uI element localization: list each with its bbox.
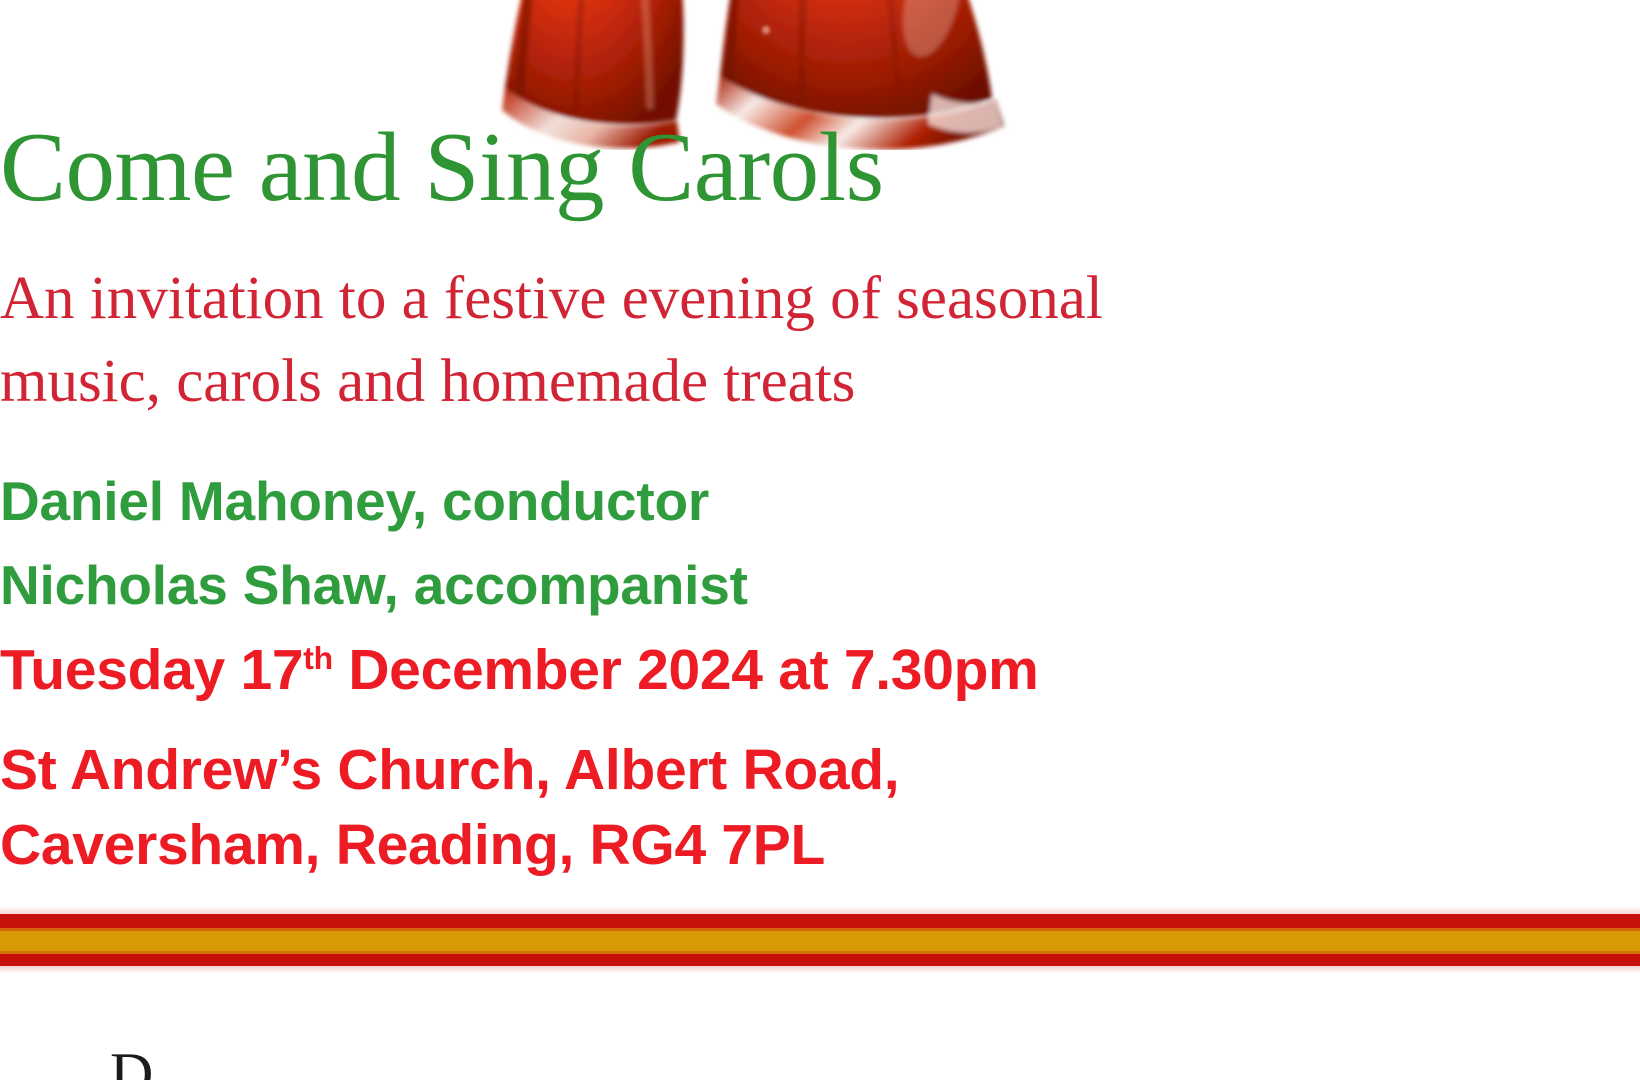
stripe-red-top bbox=[0, 914, 1640, 928]
event-date-suffix: December 2024 at 7.30pm bbox=[333, 638, 1039, 702]
bottom-cutoff-text: D bbox=[110, 1044, 1110, 1080]
event-date-prefix: Tuesday 17 bbox=[0, 638, 303, 702]
date-ordinal-suffix: th bbox=[303, 640, 333, 676]
event-venue: St Andrew’s Church, Albert Road, Caversh… bbox=[0, 733, 1640, 883]
venue-line-2: Caversham, Reading, RG4 7PL bbox=[0, 808, 1640, 883]
carol-concert-poster: Come and Sing Carols An invitation to a … bbox=[0, 0, 1640, 1080]
subtitle-line-1: An invitation to a festive evening of se… bbox=[0, 258, 1640, 341]
stripe-red-bottom bbox=[0, 954, 1640, 966]
bottom-cutoff-line-1: D bbox=[110, 1044, 1110, 1080]
event-datetime: Tuesday 17th December 2024 at 7.30pm bbox=[0, 639, 1640, 702]
subtitle-line-2: music, carols and homemade treats bbox=[0, 341, 1640, 424]
credit-accompanist: Nicholas Shaw, accompanist bbox=[0, 544, 1640, 628]
stripe-gold bbox=[0, 931, 1640, 951]
page-title: Come and Sing Carols bbox=[0, 118, 1640, 217]
venue-line-1: St Andrew’s Church, Albert Road, bbox=[0, 733, 1640, 808]
decorative-stripe-divider bbox=[0, 906, 1640, 962]
subtitle: An invitation to a festive evening of se… bbox=[0, 258, 1640, 424]
performer-credits: Daniel Mahoney, conductor Nicholas Shaw,… bbox=[0, 460, 1640, 627]
stripe-fade-top bbox=[0, 906, 1640, 914]
stripe-fade-bottom bbox=[0, 966, 1640, 973]
credit-conductor: Daniel Mahoney, conductor bbox=[0, 460, 1640, 544]
